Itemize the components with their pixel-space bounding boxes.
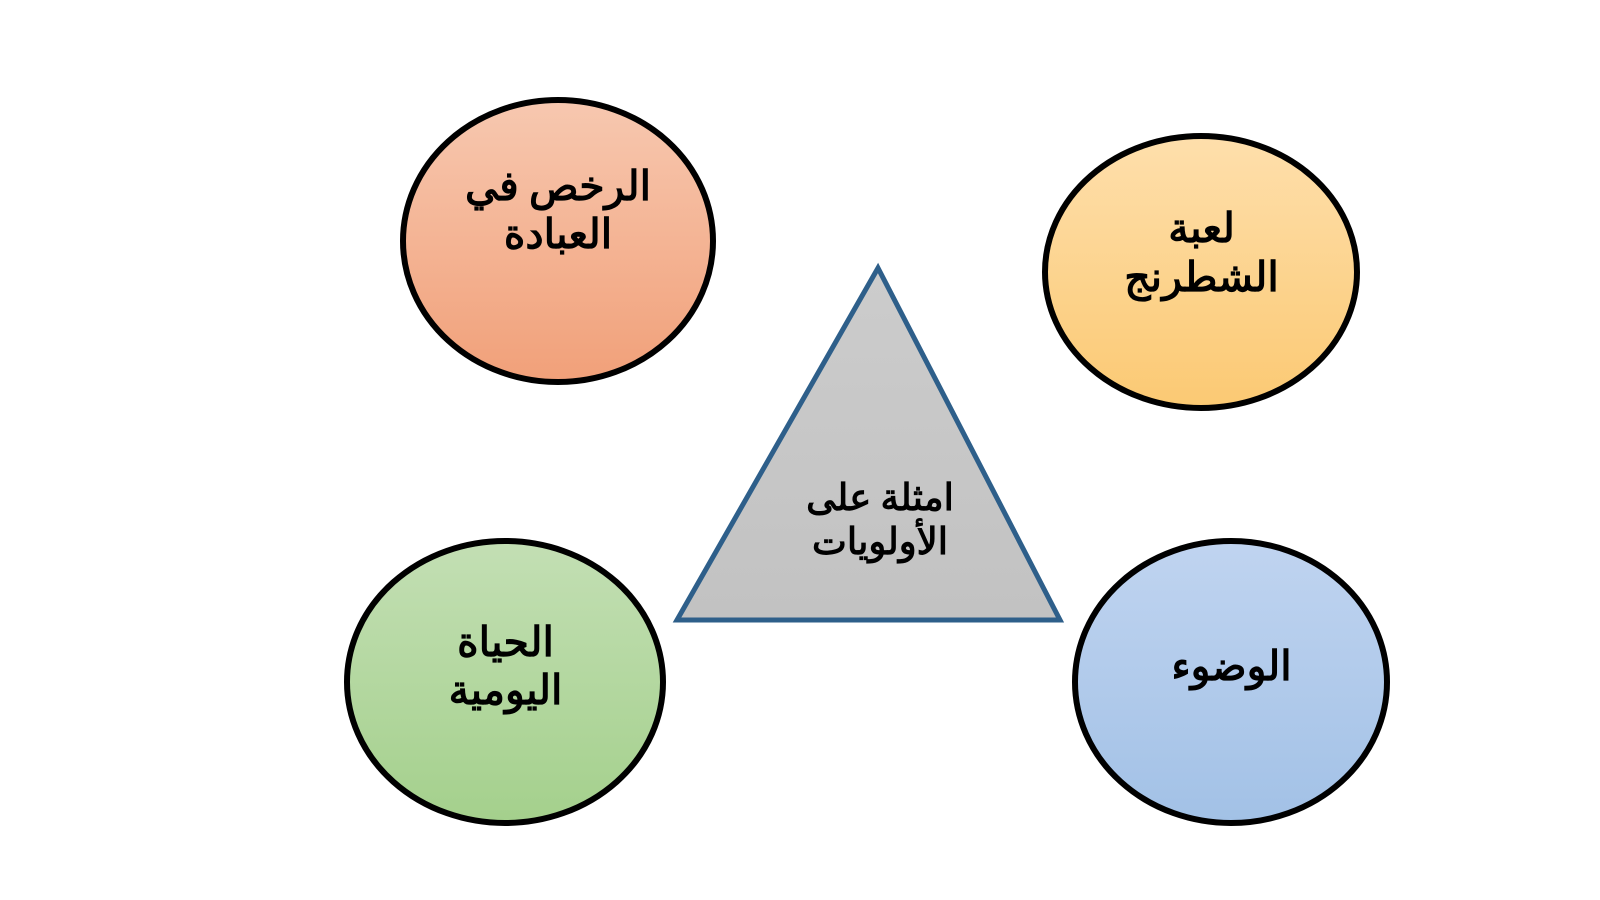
ellipse-chess-game[interactable] <box>1045 136 1357 408</box>
ellipse-licenses-worship[interactable] <box>403 100 713 382</box>
ellipse-ablution[interactable] <box>1075 541 1387 823</box>
diagram-shapes <box>0 0 1600 900</box>
triangle-examples-of-priorities[interactable] <box>677 268 1060 620</box>
ellipse-daily-life[interactable] <box>347 541 663 823</box>
diagram-canvas: الرخص في العبادة لعبة الشطرنج الحياة الي… <box>0 0 1600 900</box>
